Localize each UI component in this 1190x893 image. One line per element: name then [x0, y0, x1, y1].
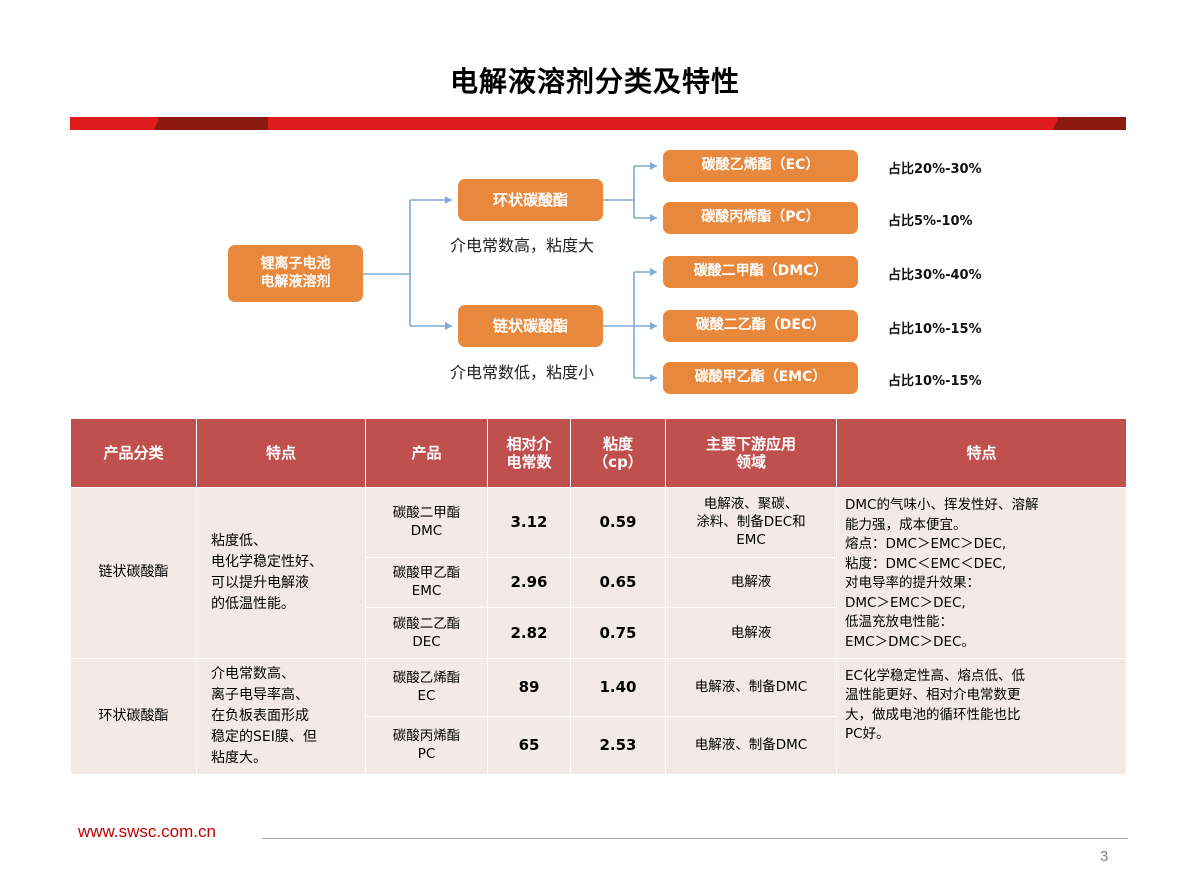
- flow-node-pc: 碳酸丙烯酯（PC）: [663, 202, 858, 234]
- notes-linear-l7: 低温充放电性能：: [845, 614, 953, 630]
- notes-linear-l4: 粘度：DMC＜EMC＜DEC,: [845, 556, 1006, 572]
- product-dec-abbr: DEC: [412, 634, 440, 650]
- flow-note-cyclic: 介电常数高，粘度大: [450, 232, 594, 256]
- cell-application-emc: 电解液: [666, 557, 837, 607]
- page-title: 电解液溶剂分类及特性: [0, 60, 1190, 100]
- notes-linear-l2: 能力强，成本便宜。: [845, 517, 967, 533]
- feature-cyclic-l1: 介电常数高、: [211, 666, 295, 682]
- application-dmc-l3: EMC: [736, 532, 766, 548]
- cell-notes-linear: DMC的气味小、挥发性好、溶解 能力强，成本便宜。 熔点：DMC＞EMC＞DEC…: [837, 488, 1127, 659]
- product-dec-cn: 碳酸二乙酯: [393, 616, 461, 632]
- feature-cyclic-l2: 离子电导率高、: [211, 687, 309, 703]
- notes-cyclic-l2: 温性能更好、相对介电常数更: [845, 687, 1021, 703]
- page-number: 3: [1100, 848, 1108, 865]
- cell-category-linear: 链状碳酸酯: [71, 488, 197, 659]
- solvent-classification-flowchart: 锂离子电池 电解液溶剂 环状碳酸酯 链状碳酸酯 介电常数高，粘度大 介电常数低，…: [0, 140, 1190, 408]
- flow-node-ec: 碳酸乙烯酯（EC）: [663, 150, 858, 182]
- cell-application-dec: 电解液: [666, 608, 837, 658]
- slide-root: 电解液溶剂分类及特性: [0, 0, 1190, 893]
- application-dmc-l2: 涂料、制备DEC和: [696, 514, 805, 530]
- cell-category-cyclic: 环状碳酸酯: [71, 658, 197, 774]
- cell-viscosity-pc: 2.53: [571, 716, 666, 774]
- product-pc-cn: 碳酸丙烯酯: [393, 728, 461, 744]
- cell-product-ec: 碳酸乙烯酯 EC: [366, 658, 488, 716]
- table-row: 链状碳酸酯 粘度低、 电化学稳定性好、 可以提升电解液 的低温性能。 碳酸二甲酯…: [71, 488, 1127, 558]
- cell-product-dec: 碳酸二乙酯 DEC: [366, 608, 488, 658]
- feature-cyclic-l3: 在负板表面形成: [211, 708, 309, 724]
- cell-dielectric-dmc: 3.12: [488, 488, 571, 558]
- product-pc-abbr: PC: [418, 746, 436, 762]
- cell-viscosity-emc: 0.65: [571, 557, 666, 607]
- share-label-dmc: 占比30%-40%: [888, 264, 982, 283]
- feature-cyclic-l5: 粘度大。: [211, 750, 267, 766]
- feature-linear-l1: 粘度低、: [211, 533, 267, 549]
- flow-node-dec: 碳酸二乙酯（DEC）: [663, 310, 858, 342]
- cell-application-dmc: 电解液、聚碳、 涂料、制备DEC和 EMC: [666, 488, 837, 558]
- flow-node-root-line1: 锂离子电池: [261, 256, 331, 272]
- cell-viscosity-dmc: 0.59: [571, 488, 666, 558]
- feature-linear-l3: 可以提升电解液: [211, 575, 309, 591]
- notes-linear-l6: DMC＞EMC＞DEC,: [845, 595, 966, 611]
- feature-linear-l4: 的低温性能。: [211, 596, 295, 612]
- product-emc-abbr: EMC: [412, 583, 442, 599]
- col-header-viscosity: 粘度 （cp）: [571, 419, 666, 488]
- banner-segment-red-left: [70, 117, 158, 130]
- col-header-category: 产品分类: [71, 419, 197, 488]
- notes-linear-l3: 熔点：DMC＞EMC＞DEC,: [845, 536, 1006, 552]
- flow-node-cyclic-carbonate: 环状碳酸酯: [458, 179, 603, 221]
- cell-product-pc: 碳酸丙烯酯 PC: [366, 716, 488, 774]
- feature-cyclic-l4: 稳定的SEI膜、但: [211, 729, 317, 745]
- cell-viscosity-ec: 1.40: [571, 658, 666, 716]
- col-header-viscosity-l2: （cp）: [593, 453, 643, 471]
- product-emc-cn: 碳酸甲乙酯: [393, 565, 461, 581]
- share-label-pc: 占比5%-10%: [888, 210, 973, 229]
- product-ec-abbr: EC: [418, 688, 436, 704]
- product-ec-cn: 碳酸乙烯酯: [393, 670, 461, 686]
- cell-dielectric-emc: 2.96: [488, 557, 571, 607]
- cell-viscosity-dec: 0.75: [571, 608, 666, 658]
- notes-linear-l5: 对电导率的提升效果：: [845, 575, 980, 591]
- notes-cyclic-l1: EC化学稳定性高、熔点低、低: [845, 668, 1025, 684]
- col-header-dielectric-l1: 相对介: [506, 435, 551, 453]
- footer-divider: [262, 838, 1128, 839]
- col-header-dielectric-l2: 电常数: [506, 453, 551, 471]
- cell-product-emc: 碳酸甲乙酯 EMC: [366, 557, 488, 607]
- col-header-dielectric: 相对介 电常数: [488, 419, 571, 488]
- col-header-product: 产品: [366, 419, 488, 488]
- col-header-application: 主要下游应用 领域: [666, 419, 837, 488]
- share-label-dec: 占比10%-15%: [888, 318, 982, 337]
- cell-application-pc: 电解液、制备DMC: [666, 716, 837, 774]
- footer-website-link[interactable]: www.swsc.com.cn: [78, 822, 216, 842]
- flow-node-root-line2: 电解液溶剂: [261, 274, 331, 290]
- flow-node-linear-carbonate: 链状碳酸酯: [458, 305, 603, 347]
- banner-segment-dark-left: [158, 117, 268, 130]
- notes-linear-l8: EMC＞DMC＞DEC。: [845, 634, 975, 650]
- product-dmc-abbr: DMC: [411, 523, 442, 539]
- flow-node-emc: 碳酸甲乙酯（EMC）: [663, 362, 858, 394]
- col-header-application-l2: 领域: [736, 453, 766, 471]
- feature-linear-l2: 电化学稳定性好、: [211, 554, 323, 570]
- share-label-ec: 占比20%-30%: [888, 158, 982, 177]
- notes-linear-l1: DMC的气味小、挥发性好、溶解: [845, 497, 1038, 513]
- title-divider-banner: [70, 117, 1126, 130]
- table-row: 环状碳酸酯 介电常数高、 离子电导率高、 在负板表面形成 稳定的SEI膜、但 粘…: [71, 658, 1127, 716]
- table-header-row: 产品分类 特点 产品 相对介 电常数 粘度 （cp） 主要下游应用 领域 特点: [71, 419, 1127, 488]
- flow-note-linear: 介电常数低，粘度小: [450, 359, 594, 383]
- cell-feature-linear: 粘度低、 电化学稳定性好、 可以提升电解液 的低温性能。: [197, 488, 366, 659]
- cell-product-dmc: 碳酸二甲酯 DMC: [366, 488, 488, 558]
- share-label-emc: 占比10%-15%: [888, 370, 982, 389]
- application-dmc-l1: 电解液、聚碳、: [704, 496, 799, 512]
- col-header-application-l1: 主要下游应用: [706, 435, 796, 453]
- cell-notes-cyclic: EC化学稳定性高、熔点低、低 温性能更好、相对介电常数更 大，做成电池的循环性能…: [837, 658, 1127, 774]
- cell-feature-cyclic: 介电常数高、 离子电导率高、 在负板表面形成 稳定的SEI膜、但 粘度大。: [197, 658, 366, 774]
- banner-segment-red-main: [268, 117, 1058, 130]
- col-header-viscosity-l1: 粘度: [603, 435, 633, 453]
- flow-node-root: 锂离子电池 电解液溶剂: [228, 245, 363, 302]
- flow-node-dmc: 碳酸二甲酯（DMC）: [663, 256, 858, 288]
- banner-segment-dark-right: [1058, 117, 1126, 130]
- col-header-notes: 特点: [837, 419, 1127, 488]
- cell-dielectric-pc: 65: [488, 716, 571, 774]
- cell-dielectric-ec: 89: [488, 658, 571, 716]
- cell-dielectric-dec: 2.82: [488, 608, 571, 658]
- notes-cyclic-l4: PC好。: [845, 726, 890, 742]
- product-dmc-cn: 碳酸二甲酯: [393, 505, 461, 521]
- cell-application-ec: 电解液、制备DMC: [666, 658, 837, 716]
- notes-cyclic-l3: 大，做成电池的循环性能也比: [845, 707, 1021, 723]
- col-header-feature: 特点: [197, 419, 366, 488]
- solvent-properties-table: 产品分类 特点 产品 相对介 电常数 粘度 （cp） 主要下游应用 领域 特点: [70, 418, 1127, 775]
